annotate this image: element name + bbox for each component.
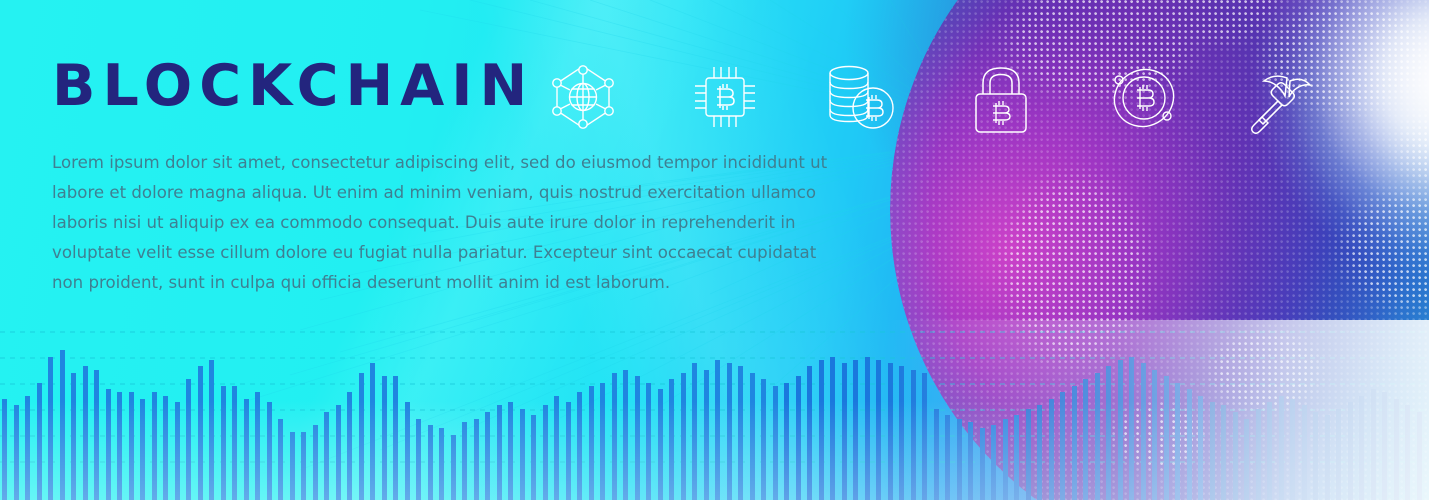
chart-bar bbox=[577, 392, 582, 500]
chart-bar bbox=[1187, 389, 1192, 500]
chart-bar bbox=[232, 386, 237, 500]
chart-bar bbox=[1083, 379, 1088, 500]
chart-bar bbox=[623, 370, 628, 500]
chart-bar bbox=[1279, 396, 1284, 500]
bar-chart bbox=[0, 325, 1429, 500]
chart-bar bbox=[922, 373, 927, 500]
chart-bar bbox=[876, 360, 881, 500]
chart-bar bbox=[865, 357, 870, 500]
chart-bar bbox=[439, 428, 444, 500]
chart-bar bbox=[715, 360, 720, 500]
chart-bar bbox=[462, 422, 467, 500]
chart-bar bbox=[405, 402, 410, 500]
blockchain-banner: BLOCKCHAIN Lorem ipsum dolor sit amet, c… bbox=[0, 0, 1429, 500]
chart-bar bbox=[520, 409, 525, 500]
chart-bar bbox=[991, 425, 996, 500]
chart-bar bbox=[911, 370, 916, 500]
chart-bars bbox=[0, 325, 1429, 500]
pickaxe-icon bbox=[1244, 60, 1324, 140]
chart-bar bbox=[1325, 415, 1330, 500]
chart-bar bbox=[508, 402, 513, 500]
chart-bar bbox=[1037, 405, 1042, 500]
chart-bar bbox=[175, 402, 180, 500]
chart-bar bbox=[244, 399, 249, 500]
bitcoin-orbit-icon bbox=[1108, 62, 1180, 134]
page-title: BLOCKCHAIN bbox=[52, 58, 534, 115]
chart-bar bbox=[117, 392, 122, 500]
chart-bar bbox=[25, 396, 30, 500]
chart-bar bbox=[1359, 396, 1364, 500]
chart-bar bbox=[612, 373, 617, 500]
chart-bar bbox=[198, 366, 203, 500]
chart-bar bbox=[324, 412, 329, 500]
chart-bar bbox=[1072, 386, 1077, 500]
chart-bar bbox=[267, 402, 272, 500]
chart-bar bbox=[692, 363, 697, 500]
chart-bar bbox=[1106, 366, 1111, 500]
chart-bar bbox=[152, 392, 157, 500]
chart-bar bbox=[842, 363, 847, 500]
chart-bar bbox=[428, 425, 433, 500]
chart-bar bbox=[796, 376, 801, 500]
chart-bar bbox=[646, 383, 651, 500]
chart-bar bbox=[14, 405, 19, 500]
chart-bar bbox=[1095, 373, 1100, 500]
chart-bar bbox=[1198, 396, 1203, 500]
chart-bar bbox=[899, 366, 904, 500]
chart-bar bbox=[1129, 357, 1134, 500]
chart-bar bbox=[347, 392, 352, 500]
chart-bar bbox=[1233, 412, 1238, 500]
chart-bar bbox=[106, 389, 111, 500]
chart-bar bbox=[750, 373, 755, 500]
chart-bar bbox=[1210, 402, 1215, 500]
chart-bar bbox=[1049, 399, 1054, 500]
chart-bar bbox=[566, 402, 571, 500]
chart-bar bbox=[945, 415, 950, 500]
chart-bar bbox=[1336, 409, 1341, 500]
chart-bar bbox=[451, 435, 456, 500]
body-paragraph: Lorem ipsum dolor sit amet, consectetur … bbox=[52, 148, 852, 298]
chart-bar bbox=[221, 386, 226, 500]
chart-bar bbox=[957, 419, 962, 500]
network-globe-icon bbox=[548, 62, 618, 132]
chart-bar bbox=[1118, 360, 1123, 500]
chart-bar bbox=[393, 376, 398, 500]
chart-bar bbox=[1141, 363, 1146, 500]
chart-bar bbox=[71, 373, 76, 500]
chart-bar bbox=[140, 399, 145, 500]
chart-bar bbox=[635, 376, 640, 500]
chart-bar bbox=[1026, 409, 1031, 500]
chart-bar bbox=[681, 373, 686, 500]
chart-bar bbox=[416, 419, 421, 500]
chart-bar bbox=[1060, 392, 1065, 500]
chart-bar bbox=[980, 428, 985, 500]
chart-bar bbox=[474, 419, 479, 500]
chart-bar bbox=[819, 360, 824, 500]
chart-bar bbox=[313, 425, 318, 500]
chart-bar bbox=[1371, 389, 1376, 500]
chart-bar bbox=[60, 350, 65, 500]
chart-bar bbox=[1164, 376, 1169, 500]
chart-bar bbox=[497, 405, 502, 500]
chart-bar bbox=[186, 379, 191, 500]
chart-bar bbox=[727, 363, 732, 500]
chart-bar bbox=[934, 409, 939, 500]
chart-bar bbox=[1244, 419, 1249, 500]
chart-bar bbox=[1382, 392, 1387, 500]
chart-bar bbox=[761, 379, 766, 500]
chart-bar bbox=[1003, 419, 1008, 500]
chart-bar bbox=[94, 370, 99, 500]
chart-bar bbox=[589, 386, 594, 500]
chart-bar bbox=[773, 386, 778, 500]
chart-bar bbox=[129, 392, 134, 500]
chart-bar bbox=[163, 396, 168, 500]
chart-bar bbox=[1175, 383, 1180, 500]
lock-bitcoin-icon bbox=[968, 62, 1034, 136]
chart-bar bbox=[37, 383, 42, 500]
chart-bar bbox=[600, 383, 605, 500]
chart-bar bbox=[830, 357, 835, 500]
chart-bar bbox=[359, 373, 364, 500]
chart-bar bbox=[1394, 399, 1399, 500]
chart-bar bbox=[1417, 412, 1422, 500]
chart-bar bbox=[807, 366, 812, 500]
chart-bar bbox=[278, 419, 283, 500]
chart-bar bbox=[1348, 402, 1353, 500]
chart-bar bbox=[290, 432, 295, 500]
chart-bar bbox=[255, 392, 260, 500]
chart-bar bbox=[704, 370, 709, 500]
chart-bar bbox=[1256, 409, 1261, 500]
chart-bar bbox=[370, 363, 375, 500]
chart-bar bbox=[1290, 399, 1295, 500]
chart-bar bbox=[209, 360, 214, 500]
chart-bar bbox=[1221, 405, 1226, 500]
chart-bar bbox=[853, 360, 858, 500]
chart-bar bbox=[784, 383, 789, 500]
chart-bar bbox=[543, 405, 548, 500]
chart-bar bbox=[888, 363, 893, 500]
chart-bar bbox=[531, 415, 536, 500]
chart-bar bbox=[1267, 402, 1272, 500]
chart-bar bbox=[658, 389, 663, 500]
chart-bar bbox=[1405, 405, 1410, 500]
chart-bar bbox=[382, 376, 387, 500]
chart-bar bbox=[1152, 370, 1157, 500]
chart-bar bbox=[336, 405, 341, 500]
coin-stack-icon bbox=[822, 62, 896, 134]
chart-bar bbox=[738, 366, 743, 500]
cpu-bitcoin-icon bbox=[690, 62, 760, 132]
chart-bar bbox=[1014, 415, 1019, 500]
chart-bar bbox=[968, 422, 973, 500]
chart-bar bbox=[485, 412, 490, 500]
chart-bar bbox=[554, 396, 559, 500]
chart-bar bbox=[83, 366, 88, 500]
chart-bar bbox=[301, 432, 306, 500]
chart-bar bbox=[1302, 405, 1307, 500]
chart-bar bbox=[669, 379, 674, 500]
chart-bar bbox=[2, 399, 7, 500]
chart-bar bbox=[1313, 412, 1318, 500]
chart-bar bbox=[48, 357, 53, 500]
